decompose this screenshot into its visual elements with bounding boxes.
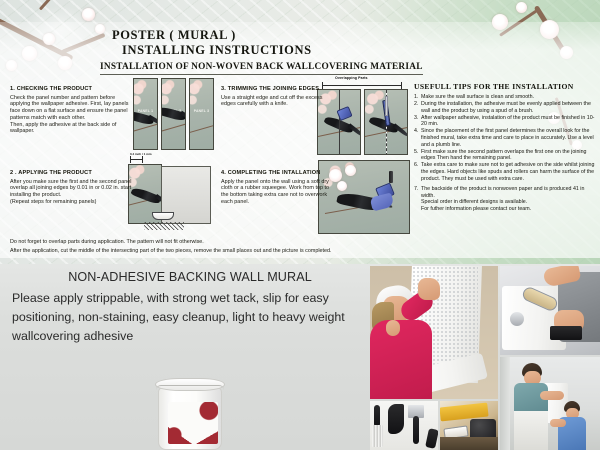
photo-woman-hanging-wallpaper: [370, 266, 498, 399]
dimension-tick-left: [130, 156, 131, 163]
photo-tool-set: [370, 401, 438, 450]
panel-3-artwork: PANEL 3: [189, 78, 214, 150]
tip-text: The backside of the product is nonwoven …: [421, 186, 596, 212]
plastic-smoother-icon: [388, 404, 404, 434]
tip-item: 4. Since the placement of the first pane…: [414, 128, 596, 148]
photo-tray-and-tools: [440, 401, 498, 450]
step-4-completing-the-installation: 4. COMPLETING THE INTALLATION Apply the …: [221, 170, 331, 206]
step-4-title: 4. COMPLETING THE INTALLATION: [221, 170, 331, 176]
gloved-hand: [370, 193, 395, 212]
step-1-checking-the-product: 1. CHECKING THE PRODUCT Check the panel …: [10, 86, 130, 135]
photo-man-and-boy: [500, 357, 600, 450]
overlap-dimension-label: 0.4 inch / 1 mm: [130, 152, 152, 156]
tip-number: 2.: [414, 101, 421, 114]
overlapping-parts-label: Overlapping Parts: [335, 76, 368, 80]
title-line-1: POSTER ( MURAL ): [112, 28, 312, 43]
instruction-sheet: POSTER ( MURAL ) INSTALLING INSTRUCTIONS…: [0, 0, 600, 264]
roller-end-cap: [510, 312, 524, 326]
man-arm: [540, 391, 564, 400]
step-2-title: 2 . APPLYING THE PRODUCT: [10, 170, 132, 176]
pink-shirt: [370, 320, 432, 399]
seam-line-left: [339, 90, 340, 155]
neck: [386, 320, 400, 336]
tip-text: Take extra care to make sure not to get …: [421, 162, 596, 182]
knife-icon: [425, 428, 438, 449]
tip-text: During the installation, the adhesive mu…: [421, 101, 596, 114]
wall-hatching: [144, 222, 184, 230]
step-3-trimming-the-joining-edges: 3. TRIMMING THE JOINING EDGES Use a stra…: [221, 86, 329, 108]
step-2-applying-the-product: 2 . APPLYING THE PRODUCT After you make …: [10, 170, 132, 206]
final-mural-artwork: [318, 160, 410, 234]
diagram-step-4-completing: [318, 160, 410, 234]
panel-curl: [152, 212, 174, 220]
diagram-step-2-applying: 0.4 inch / 1 mm: [128, 152, 216, 236]
promo-title: NON-ADHESIVE BACKING WALL MURAL: [12, 270, 368, 284]
tip-item: 2. During the installation, the adhesive…: [414, 101, 596, 114]
tip-item: 7. The backside of the product is nonwov…: [414, 186, 596, 212]
step-1-body: Check the panel number and pattern befor…: [10, 95, 130, 136]
bucket-label: [168, 402, 218, 444]
brush-handle-icon: [374, 405, 380, 427]
tip-number: 1.: [414, 94, 421, 101]
page-title: POSTER ( MURAL ) INSTALLING INSTRUCTIONS: [112, 28, 312, 58]
tip-text: Since the placement of the first panel d…: [421, 128, 596, 148]
scraper-tool-icon: [550, 326, 582, 340]
bucket-handle: [156, 385, 224, 390]
tip-item: 1. Make sure the wall surface is clean a…: [414, 94, 596, 101]
tip-text: First make sure the second pattern overl…: [421, 149, 596, 162]
doorframe: [500, 357, 510, 450]
overlap-tick-right: [401, 82, 402, 89]
bucket-body: [158, 387, 222, 450]
photo-collage: [370, 266, 600, 450]
promo-block: NON-ADHESIVE BACKING WALL MURAL Please a…: [12, 270, 368, 346]
tip-number: 3.: [414, 115, 421, 128]
useful-tips-section: USEFULL TIPS FOR THE INSTALLATION 1. Mak…: [414, 82, 596, 213]
step-2-body: After you make sure the first and the se…: [10, 179, 132, 206]
smoothing-brush-icon: [372, 425, 383, 447]
tip-item: 3. After wallpaper adhesive, instalation…: [414, 115, 596, 128]
dimension-tick-right: [142, 156, 143, 163]
hand-on-wall: [418, 278, 440, 300]
adhesive-bucket-image: [155, 378, 225, 450]
panel-3-label: PANEL 3: [194, 109, 209, 113]
knife-blade-icon: [385, 96, 388, 116]
panel-2-artwork: PANEL 2: [161, 78, 186, 150]
promo-body: Please apply strippable, with strong wet…: [12, 289, 368, 346]
trim-panel-right: [364, 89, 408, 155]
panel-1-artwork: PANEL 1: [133, 78, 158, 150]
squeegee-handle-icon: [389, 171, 393, 183]
application-notes: Do not forget to overlap parts during ap…: [10, 238, 595, 256]
tip-item: 5. First make sure the second pattern ov…: [414, 149, 596, 162]
diagram-step-3-trimming: Overlapping Parts: [317, 76, 409, 156]
diagram-step-1-panels: PANEL 1 PANEL 2 PANEL 3: [133, 78, 215, 150]
tip-number: 7.: [414, 186, 421, 212]
tip-text: Make sure the wall surface is clean and …: [421, 94, 596, 101]
scraper-handle-icon: [413, 416, 419, 444]
tip-text: After wallpaper adhesive, instalation of…: [421, 115, 596, 128]
tip-item: 6. Take extra care to make sure not to g…: [414, 162, 596, 182]
tabletop: [440, 437, 498, 450]
note-line-2: After the application, cut the middle of…: [10, 247, 595, 256]
title-line-2: INSTALLING INSTRUCTIONS: [112, 43, 312, 58]
overlap-span-line: [322, 85, 402, 86]
tip-number: 6.: [414, 162, 421, 182]
boy-arm: [550, 419, 566, 427]
note-line-1: Do not forget to overlap parts during ap…: [10, 238, 595, 247]
tip-number: 4.: [414, 128, 421, 148]
step-3-title: 3. TRIMMING THE JOINING EDGES: [221, 86, 329, 92]
photo-hands-with-roller: [500, 266, 600, 355]
step-4-body: Apply the panel onto the wall using a so…: [221, 179, 331, 206]
man-pants: [514, 411, 548, 450]
tip-number: 5.: [414, 149, 421, 162]
step-3-body: Use a straight edge and cut off the exce…: [221, 95, 329, 109]
tips-heading: USEFULL TIPS FOR THE INSTALLATION: [414, 82, 596, 91]
step-1-title: 1. CHECKING THE PRODUCT: [10, 86, 130, 92]
page-subtitle: INSTALLATION OF NON-WOVEN BACK WALLCOVER…: [100, 62, 423, 75]
